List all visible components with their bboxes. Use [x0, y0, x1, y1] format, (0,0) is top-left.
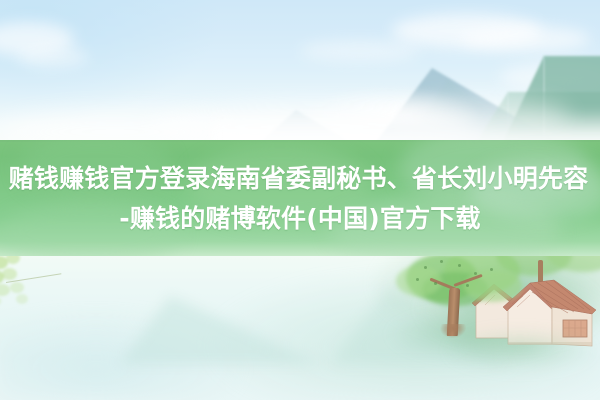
- cloud-icon: [460, 26, 590, 52]
- leaf-sprig-icon: [0, 256, 56, 320]
- title-band: [0, 140, 600, 258]
- band-texture: [0, 202, 180, 258]
- sky-background: [0, 0, 600, 152]
- cloud-icon: [300, 40, 420, 62]
- band-texture: [20, 140, 170, 202]
- band-texture: [470, 160, 600, 220]
- cloud-icon: [18, 46, 88, 68]
- shrub-mass-lower: [430, 330, 600, 380]
- foreground-scene: [0, 256, 600, 400]
- pale-ridge-left: [120, 296, 320, 364]
- banner-image: 赌钱赚钱官方登录海南省委副秘书、省长刘小明先容 -赚钱的赌博软件(中国)官方下载: [0, 0, 600, 400]
